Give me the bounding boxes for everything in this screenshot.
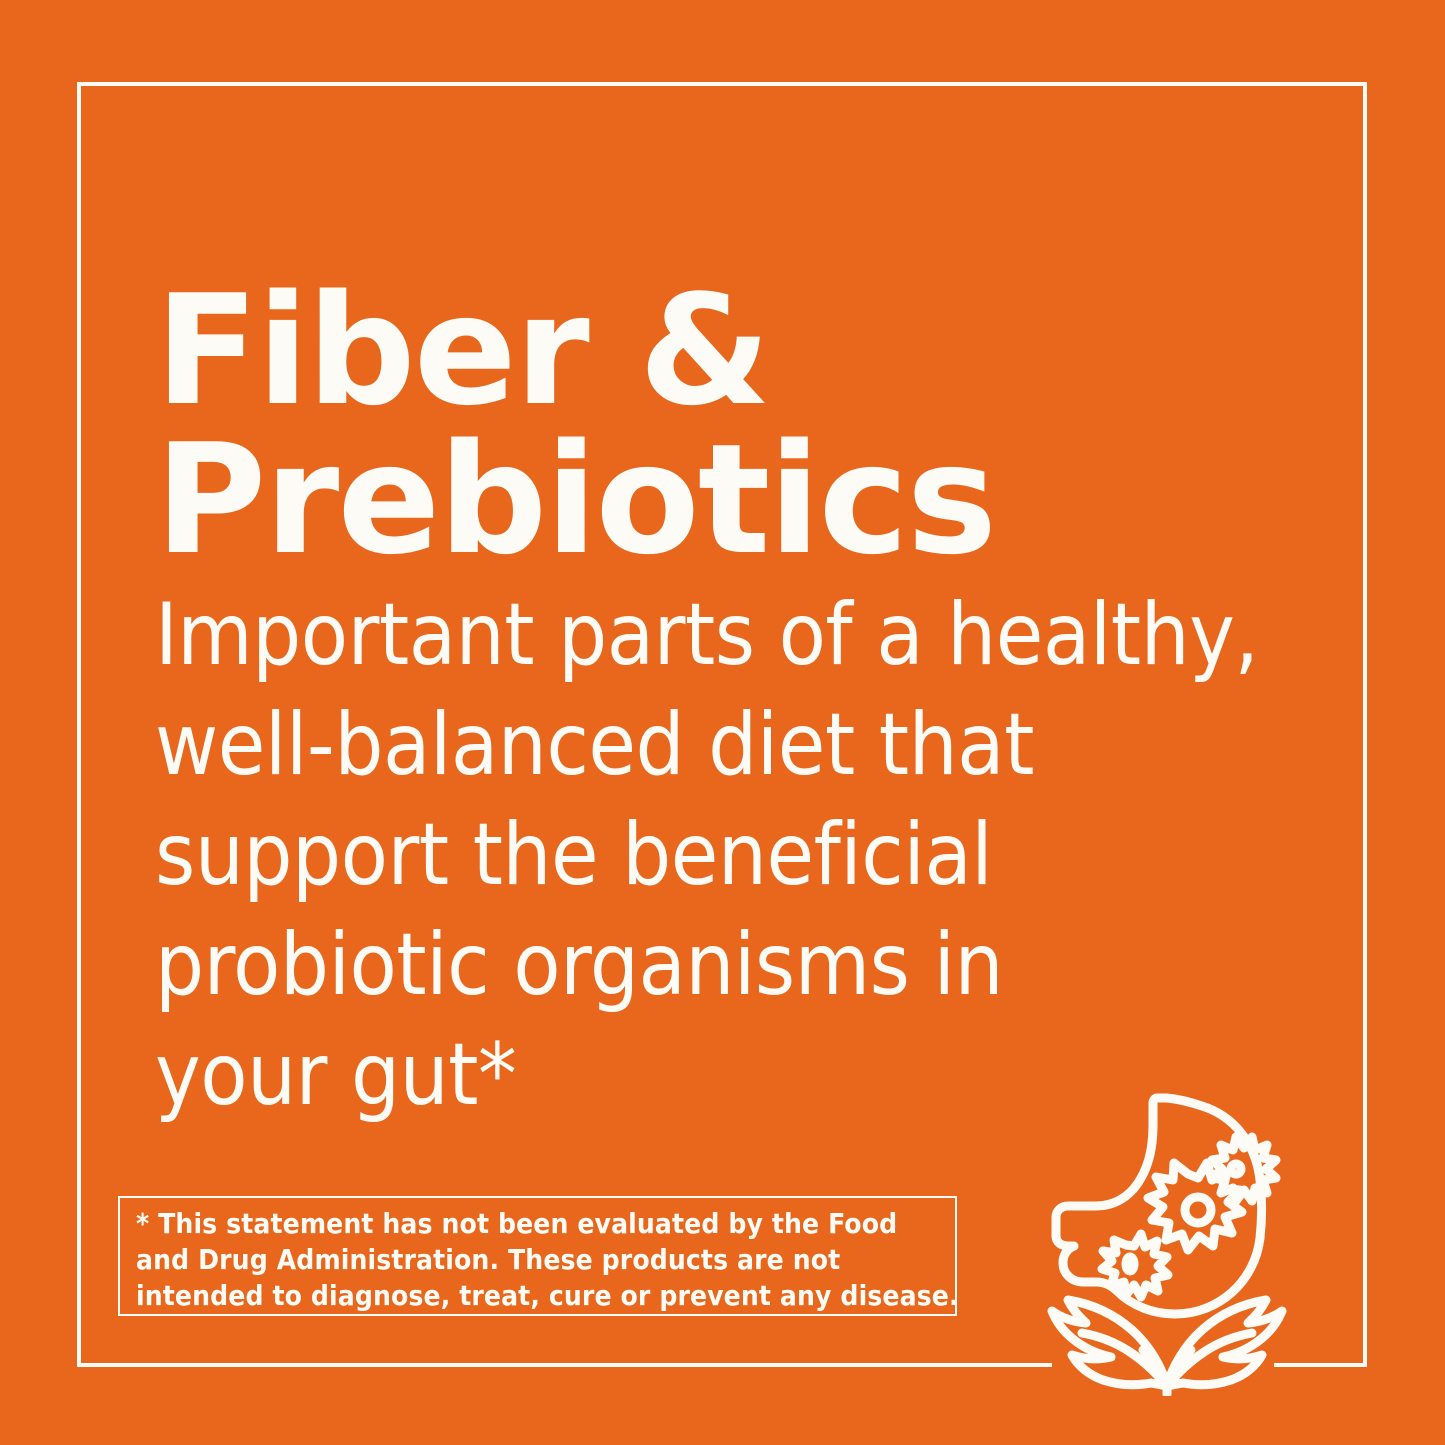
stomach-with-probiotics-and-leaves-icon [1012,1086,1322,1396]
disclaimer-line-2: and Drug Administration. These products … [136,1242,951,1278]
body-paragraph: Important parts of a healthy, well-balan… [155,580,1335,1130]
frame-top-edge [77,82,1367,86]
page-title-line-1: Fiber & [155,277,1155,426]
disclaimer-line-3: intended to diagnose, treat, cure or pre… [136,1278,951,1314]
disclaimer-line-1: * This statement has not been evaluated … [136,1206,951,1242]
body-line-3: support the beneficial [155,800,1335,910]
promo-card: Fiber & Prebiotics Important parts of a … [0,0,1445,1445]
page-title: Fiber & Prebiotics [155,277,1155,575]
disclaimer-box: * This statement has not been evaluated … [118,1196,957,1316]
frame-left-edge [77,82,81,1367]
page-title-line-2: Prebiotics [155,426,1155,575]
frame-right-edge [1363,82,1367,1367]
body-line-4: probiotic organisms in [155,910,1335,1020]
body-line-1: Important parts of a healthy, [155,580,1335,690]
body-line-2: well-balanced diet that [155,690,1335,800]
disclaimer-text: * This statement has not been evaluated … [136,1206,951,1314]
frame-bottom-left-edge [77,1363,1052,1367]
